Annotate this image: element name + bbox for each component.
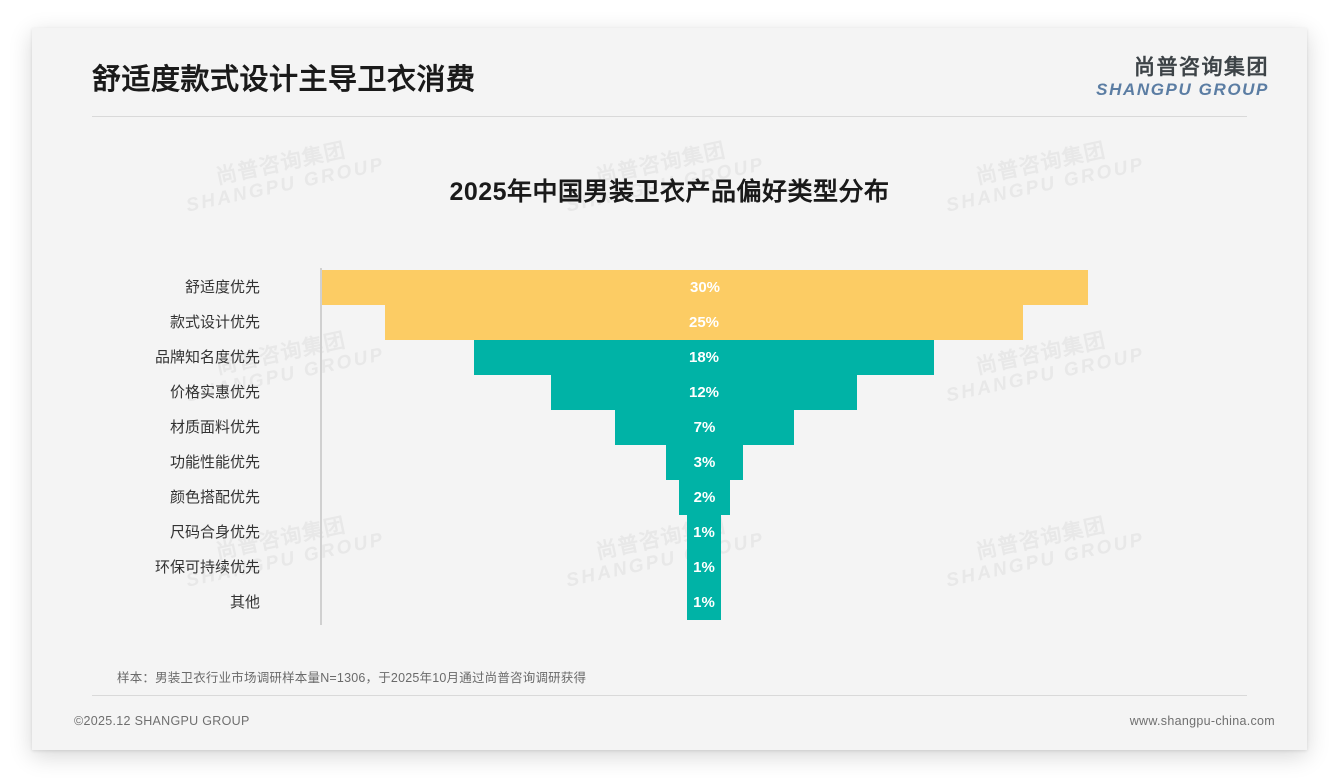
bar-row: 品牌知名度优先18% [32, 340, 1307, 375]
bar-category-label: 舒适度优先 [185, 270, 260, 305]
bar-row: 颜色搭配优先2% [32, 480, 1307, 515]
bar-value-label: 1% [687, 550, 721, 585]
bar-row: 款式设计优先25% [32, 305, 1307, 340]
bar-rect[interactable]: 7% [615, 410, 794, 445]
bar-rect[interactable]: 25% [385, 305, 1023, 340]
bar-category-label: 价格实惠优先 [170, 375, 260, 410]
bar-rect[interactable]: 12% [551, 375, 857, 410]
bar-rect[interactable]: 3% [666, 445, 743, 480]
funnel-bar-chart: 舒适度优先30%款式设计优先25%品牌知名度优先18%价格实惠优先12%材质面料… [32, 268, 1307, 638]
page-title: 舒适度款式设计主导卫衣消费 [92, 56, 476, 98]
bar-rect[interactable]: 1% [687, 585, 721, 620]
bar-rect[interactable]: 18% [474, 340, 934, 375]
bar-value-label: 7% [615, 410, 794, 445]
bar-value-label: 3% [666, 445, 743, 480]
copyright-text: ©2025.12 SHANGPU GROUP [74, 714, 250, 728]
bar-category-label: 尺码合身优先 [170, 515, 260, 550]
bar-value-label: 12% [551, 375, 857, 410]
slide-footer: ©2025.12 SHANGPU GROUP www.shangpu-china… [32, 698, 1307, 750]
slide-card: 尚普咨询集团SHANGPU GROUP尚普咨询集团SHANGPU GROUP尚普… [32, 28, 1307, 750]
bar-value-label: 2% [679, 480, 730, 515]
bar-row: 舒适度优先30% [32, 270, 1307, 305]
bar-rect[interactable]: 30% [322, 270, 1088, 305]
bar-category-label: 功能性能优先 [170, 445, 260, 480]
bar-value-label: 30% [322, 270, 1088, 305]
bar-category-label: 环保可持续优先 [155, 550, 260, 585]
footnote-divider [92, 695, 1247, 696]
slide-header: 舒适度款式设计主导卫衣消费 尚普咨询集团 SHANGPU GROUP [32, 28, 1307, 120]
website-link[interactable]: www.shangpu-china.com [1130, 714, 1275, 728]
bar-rect[interactable]: 1% [687, 550, 721, 585]
bar-category-label: 其他 [230, 585, 260, 620]
bar-category-label: 颜色搭配优先 [170, 480, 260, 515]
chart-title: 2025年中国男装卫衣产品偏好类型分布 [32, 172, 1307, 208]
bar-value-label: 18% [474, 340, 934, 375]
header-divider [92, 116, 1247, 117]
sample-footnote: 样本：男装卫衣行业市场调研样本量N=1306，于2025年10月通过尚普咨询调研… [117, 667, 586, 686]
brand-logo-cn: 尚普咨询集团 [1096, 56, 1269, 80]
bar-category-label: 品牌知名度优先 [155, 340, 260, 375]
bar-row: 材质面料优先7% [32, 410, 1307, 445]
bar-value-label: 1% [687, 515, 721, 550]
bar-category-label: 材质面料优先 [170, 410, 260, 445]
bar-row: 尺码合身优先1% [32, 515, 1307, 550]
brand-logo: 尚普咨询集团 SHANGPU GROUP [1096, 56, 1269, 100]
bar-rect[interactable]: 2% [679, 480, 730, 515]
bar-row: 功能性能优先3% [32, 445, 1307, 480]
bar-row: 环保可持续优先1% [32, 550, 1307, 585]
chart-area: 2025年中国男装卫衣产品偏好类型分布 舒适度优先30%款式设计优先25%品牌知… [32, 120, 1307, 665]
bar-rect[interactable]: 1% [687, 515, 721, 550]
brand-logo-en: SHANGPU GROUP [1096, 80, 1269, 100]
bar-value-label: 1% [687, 585, 721, 620]
bar-category-label: 款式设计优先 [170, 305, 260, 340]
bar-value-label: 25% [385, 305, 1023, 340]
bar-row: 其他1% [32, 585, 1307, 620]
bar-row: 价格实惠优先12% [32, 375, 1307, 410]
